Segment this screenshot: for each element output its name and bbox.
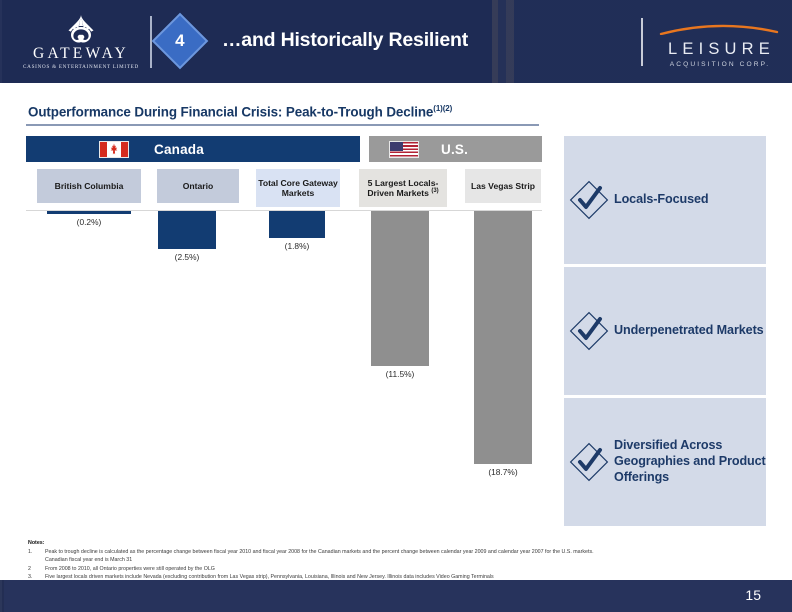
region-header-canada: Canada	[26, 136, 360, 162]
leisure-arc-icon	[659, 22, 779, 35]
footnote-text-2: From 2008 to 2010, all Ontario propertie…	[45, 565, 728, 574]
category-label-total-core-gateway-markets: Total Core Gateway Markets	[258, 178, 338, 199]
diamond-shape-icon: 4	[152, 13, 209, 70]
page-title-text: Outperformance During Financial Crisis: …	[28, 104, 433, 119]
bar-5-largest-locals-driven-markets	[371, 211, 429, 366]
bar-value-ontario: (2.5%)	[158, 252, 216, 262]
check-diamond-icon	[564, 180, 614, 220]
gateway-logo-tagline: CASINOS & ENTERTAINMENT LIMITED	[22, 65, 140, 70]
section-number-badge: 4	[152, 13, 208, 69]
bar-ontario	[158, 211, 216, 249]
bar-value-5-largest-locals-driven-markets: (11.5%)	[371, 369, 429, 379]
chart: Canada U.S. British Columbia Ontario Tot…	[26, 136, 542, 526]
canada-flag-icon	[99, 141, 129, 158]
category-box-5-largest-locals-driven-markets: 5 Largest Locals-Driven Markets (3)	[359, 169, 447, 207]
check-diamond-icon	[564, 442, 614, 482]
footnote-item-1: 1. Peak to trough decline is calculated …	[28, 548, 728, 557]
footnote-continuation-1: Canadian fiscal year end is March 31	[45, 556, 728, 565]
category-box-ontario: Ontario	[157, 169, 239, 203]
bar-value-total-core-gateway-markets: (1.8%)	[269, 241, 325, 251]
category-label-ontario: Ontario	[183, 181, 214, 191]
category-label-las-vegas-strip: Las Vegas Strip	[471, 181, 535, 191]
bar-value-british-columbia: (0.2%)	[47, 217, 131, 227]
header-title: …and Historically Resilient	[222, 29, 468, 52]
title-underline	[26, 124, 539, 126]
slide-header: GATEWAY CASINOS & ENTERTAINMENT LIMITED …	[0, 0, 792, 83]
highlight-label-diversified: Diversified Across Geographies and Produ…	[614, 438, 766, 485]
gateway-logo-name: GATEWAY	[22, 46, 140, 62]
highlight-panel-diversified[interactable]: Diversified Across Geographies and Produ…	[564, 398, 766, 526]
gateway-crown-icon	[22, 14, 140, 44]
footnote-number-1: 1.	[28, 548, 45, 557]
category-footnote-5-largest: (3)	[431, 188, 438, 194]
bar-total-core-gateway-markets	[269, 211, 325, 238]
region-label-canada: Canada	[154, 142, 204, 157]
footnote-number-2: 2	[28, 565, 45, 574]
footnote-text-1: Peak to trough decline is calculated as …	[45, 548, 728, 557]
highlight-panel-underpenetrated-markets[interactable]: Underpenetrated Markets	[564, 267, 766, 395]
gateway-logo: GATEWAY CASINOS & ENTERTAINMENT LIMITED	[22, 14, 140, 70]
highlights-panel-group: Locals-Focused Underpenetrated Markets D…	[564, 136, 766, 526]
footnotes: Notes: 1. Peak to trough decline is calc…	[28, 540, 728, 582]
category-label-text-5-largest: 5 Largest Locals-Driven Markets	[367, 178, 438, 198]
leisure-acquisition-logo: LEISURE ACQUISITION CORP.	[653, 22, 785, 68]
slide: GATEWAY CASINOS & ENTERTAINMENT LIMITED …	[0, 0, 792, 612]
highlight-label-locals-focused: Locals-Focused	[614, 192, 708, 208]
footnotes-heading: Notes:	[28, 540, 728, 546]
slide-footer: 15	[0, 580, 792, 612]
bar-value-las-vegas-strip: (18.7%)	[474, 467, 532, 477]
category-box-las-vegas-strip: Las Vegas Strip	[465, 169, 541, 203]
region-label-us: U.S.	[441, 142, 468, 157]
footnote-item-2: 2 From 2008 to 2010, all Ontario propert…	[28, 565, 728, 574]
leisure-logo-tagline: ACQUISITION CORP.	[653, 62, 785, 69]
category-label-british-columbia: British Columbia	[55, 181, 124, 191]
page-title-footnote: (1)(2)	[433, 104, 452, 113]
usa-flag-icon	[389, 141, 419, 158]
bar-british-columbia	[47, 211, 131, 214]
section-number: 4	[175, 31, 184, 51]
category-label-5-largest-locals-driven-markets: 5 Largest Locals-Driven Markets (3)	[361, 178, 445, 199]
highlight-panel-locals-focused[interactable]: Locals-Focused	[564, 136, 766, 264]
region-header-us: U.S.	[369, 136, 542, 162]
bar-las-vegas-strip	[474, 211, 532, 464]
check-diamond-icon	[564, 311, 614, 351]
page-number: 15	[745, 587, 761, 603]
category-box-british-columbia: British Columbia	[37, 169, 141, 203]
sponsor-divider	[641, 18, 643, 66]
leisure-logo-name: LEISURE	[653, 41, 785, 58]
category-box-total-core-gateway-markets: Total Core Gateway Markets	[256, 169, 340, 207]
highlight-label-underpenetrated-markets: Underpenetrated Markets	[614, 323, 764, 339]
page-title: Outperformance During Financial Crisis: …	[28, 104, 452, 119]
